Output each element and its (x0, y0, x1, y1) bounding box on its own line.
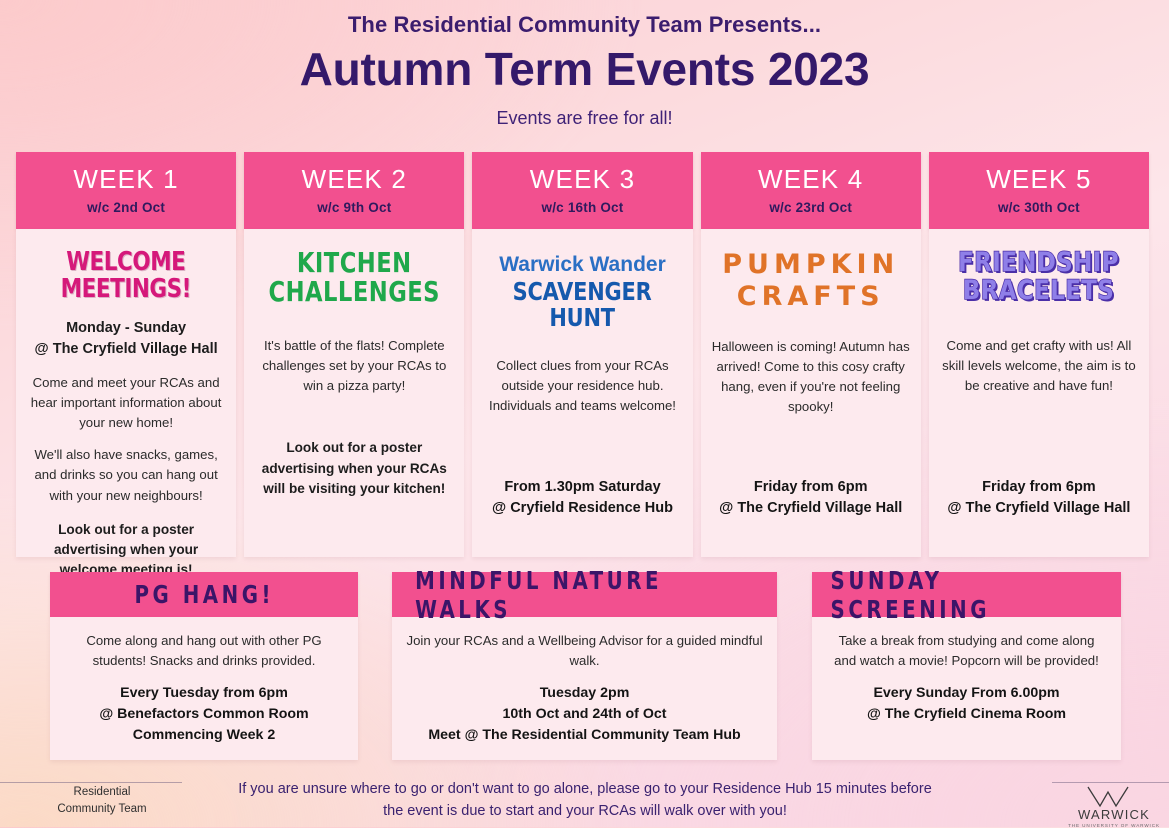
event-title-line-2: CHALLENGES (269, 278, 440, 307)
poster-canvas: The Residential Community Team Presents.… (0, 0, 1169, 827)
event-desc-paragraph: Come and meet your RCAs and hear importa… (27, 373, 225, 433)
week-card-4-body: PUMPKIN CRAFTS Halloween is coming! Autu… (701, 229, 921, 557)
page-title: Autumn Term Events 2023 (0, 42, 1169, 96)
week-card-5-body: FRIENDSHIP BRACELETS Come and get crafty… (929, 229, 1149, 557)
footer-note-line-2: the event is due to start and your RCAs … (200, 800, 970, 822)
event-title-line-2: SCAVENGER HUNT (490, 279, 674, 330)
event-foot-friendship-bracelets: Friday from 6pm @ The Cryfield Village H… (947, 477, 1130, 519)
event-when-welcome-meetings: Monday - Sunday @ The Cryfield Village H… (35, 318, 218, 359)
extra-card-mindful-nature-walks-when: Tuesday 2pm 10th Oct and 24th of Oct Mee… (406, 683, 763, 746)
extra-when-line-3: Meet @ The Residential Community Team Hu… (406, 725, 763, 746)
event-title-welcome-meetings: WELCOME MEETINGS! (61, 249, 191, 302)
event-desc-friendship-bracelets: Come and get crafty with us! All skill l… (940, 336, 1138, 396)
poster-footer: Residential Community Team If you are un… (0, 770, 1169, 827)
extra-card-pg-hang: PG HANG! Come along and hang out with ot… (50, 572, 358, 760)
extra-card-sunday-screening-desc: Take a break from studying and come alon… (826, 631, 1107, 672)
event-desc-pumpkin-crafts: Halloween is coming! Autumn has arrived!… (712, 337, 910, 417)
event-foot-line-2: @ Cryfield Residence Hub (492, 498, 673, 519)
event-title-pumpkin-crafts: PUMPKIN CRAFTS (722, 249, 899, 313)
event-title-friendship-bracelets: FRIENDSHIP BRACELETS (958, 249, 1119, 306)
event-foot-scavenger-hunt: From 1.30pm Saturday @ Cryfield Residenc… (492, 477, 673, 519)
event-title-line-2: BRACELETS (958, 277, 1119, 305)
warwick-wordmark: WARWICK (1066, 807, 1162, 822)
extra-when-line-2: @ The Cryfield Cinema Room (826, 704, 1107, 725)
week-card-5-label: WEEK 5 (986, 166, 1091, 193)
event-title-line-1: PUMPKIN (722, 249, 899, 281)
week-card-3: WEEK 3 w/c 16th Oct Warwick Wander SCAVE… (472, 152, 692, 557)
week-card-5: WEEK 5 w/c 30th Oct FRIENDSHIP BRACELETS… (929, 152, 1149, 557)
event-when-line-1: Monday - Sunday (35, 318, 218, 339)
event-note-kitchen-challenges: Look out for a poster advertising when y… (255, 438, 453, 499)
extra-when-line-2: @ Benefactors Common Room (64, 704, 344, 725)
event-desc-paragraph: Collect clues from your RCAs outside you… (483, 356, 681, 416)
header-subtitle: Events are free for all! (0, 108, 1169, 129)
event-title-scavenger-hunt: Warwick Wander SCAVENGER HUNT (483, 253, 681, 330)
extra-when-line-2: 10th Oct and 24th of Oct (406, 704, 763, 725)
extra-when-line-1: Every Sunday From 6.00pm (826, 683, 1107, 704)
extra-card-mindful-nature-walks-body: Join your RCAs and a Wellbeing Advisor f… (392, 617, 777, 760)
extra-card-mindful-nature-walks-desc: Join your RCAs and a Wellbeing Advisor f… (406, 631, 763, 672)
event-foot-pumpkin-crafts: Friday from 6pm @ The Cryfield Village H… (719, 477, 902, 519)
week-card-4: WEEK 4 w/c 23rd Oct PUMPKIN CRAFTS Hallo… (701, 152, 921, 557)
rct-line-1: Residential (22, 784, 182, 801)
event-desc-paragraph: We'll also have snacks, games, and drink… (27, 445, 225, 505)
event-desc-scavenger-hunt: Collect clues from your RCAs outside you… (483, 356, 681, 416)
week-card-2: WEEK 2 w/c 9th Oct KITCHEN CHALLENGES It… (244, 152, 464, 557)
extra-card-mindful-nature-walks: MINDFUL NATURE WALKS Join your RCAs and … (392, 572, 777, 760)
event-desc-welcome-meetings: Come and meet your RCAs and hear importa… (27, 373, 225, 505)
extra-card-mindful-nature-walks-title: MINDFUL NATURE WALKS (415, 566, 754, 624)
extra-card-mindful-nature-walks-header: MINDFUL NATURE WALKS (392, 572, 777, 617)
event-title-line-2: MEETINGS! (61, 276, 191, 303)
residential-community-team-logo: Residential Community Team (22, 784, 182, 817)
week-cards-row: WEEK 1 w/c 2nd Oct WELCOME MEETINGS! Mon… (16, 152, 1149, 557)
extra-card-pg-hang-header: PG HANG! (50, 572, 358, 617)
event-desc-paragraph: Halloween is coming! Autumn has arrived!… (712, 337, 910, 417)
header-pre-title: The Residential Community Team Presents.… (0, 12, 1169, 38)
event-title-line-1: Warwick Wander (483, 253, 681, 276)
event-foot-line-1: From 1.30pm Saturday (492, 477, 673, 498)
extra-when-line-1: Every Tuesday from 6pm (64, 683, 344, 704)
extra-card-sunday-screening-header: SUNDAY SCREENING (812, 572, 1121, 617)
event-foot-line-2: @ The Cryfield Village Hall (947, 498, 1130, 519)
footer-rule-right (1052, 782, 1169, 783)
event-title-kitchen-challenges: KITCHEN CHALLENGES (269, 249, 440, 306)
week-card-1-header: WEEK 1 w/c 2nd Oct (16, 152, 236, 229)
week-card-2-label: WEEK 2 (302, 166, 407, 193)
week-card-5-date: w/c 30th Oct (998, 200, 1080, 215)
week-card-4-label: WEEK 4 (758, 166, 863, 193)
event-when-line-2: @ The Cryfield Village Hall (35, 339, 218, 360)
event-foot-line-1: Friday from 6pm (947, 477, 1130, 498)
week-card-1: WEEK 1 w/c 2nd Oct WELCOME MEETINGS! Mon… (16, 152, 236, 557)
event-title-line-1: WELCOME (61, 249, 191, 276)
extra-card-pg-hang-when: Every Tuesday from 6pm @ Benefactors Com… (64, 683, 344, 746)
extra-card-sunday-screening-body: Take a break from studying and come alon… (812, 617, 1121, 760)
footer-rule-left (0, 782, 182, 783)
week-card-2-body: KITCHEN CHALLENGES It's battle of the fl… (244, 229, 464, 557)
rct-line-2: Community Team (22, 801, 182, 818)
extra-card-sunday-screening-when: Every Sunday From 6.00pm @ The Cryfield … (826, 683, 1107, 725)
event-desc-paragraph: Come and get crafty with us! All skill l… (940, 336, 1138, 396)
week-card-3-header: WEEK 3 w/c 16th Oct (472, 152, 692, 229)
extra-events-row: PG HANG! Come along and hang out with ot… (0, 572, 1169, 758)
week-card-1-body: WELCOME MEETINGS! Monday - Sunday @ The … (16, 229, 236, 557)
warwick-w-icon (1066, 786, 1162, 808)
event-foot-line-2: @ The Cryfield Village Hall (719, 498, 902, 519)
footer-note-line-1: If you are unsure where to go or don't w… (200, 778, 970, 800)
extra-card-pg-hang-desc: Come along and hang out with other PG st… (64, 631, 344, 672)
event-foot-line-1: Friday from 6pm (719, 477, 902, 498)
extra-card-sunday-screening-title: SUNDAY SCREENING (831, 566, 1103, 624)
footer-note: If you are unsure where to go or don't w… (200, 778, 970, 823)
week-card-3-label: WEEK 3 (530, 166, 635, 193)
week-card-5-header: WEEK 5 w/c 30th Oct (929, 152, 1149, 229)
week-card-3-body: Warwick Wander SCAVENGER HUNT Collect cl… (472, 229, 692, 557)
extra-card-pg-hang-title: PG HANG! (134, 580, 274, 609)
warwick-subtitle: THE UNIVERSITY OF WARWICK (1066, 823, 1162, 828)
week-card-4-header: WEEK 4 w/c 23rd Oct (701, 152, 921, 229)
extra-when-line-1: Tuesday 2pm (406, 683, 763, 704)
week-card-1-label: WEEK 1 (73, 166, 178, 193)
extra-card-sunday-screening: SUNDAY SCREENING Take a break from study… (812, 572, 1121, 760)
event-title-line-1: FRIENDSHIP (958, 249, 1119, 277)
poster-header: The Residential Community Team Presents.… (0, 0, 1169, 129)
week-card-2-header: WEEK 2 w/c 9th Oct (244, 152, 464, 229)
week-card-2-date: w/c 9th Oct (317, 200, 391, 215)
event-title-line-1: KITCHEN (269, 249, 440, 278)
extra-when-line-3: Commencing Week 2 (64, 725, 344, 746)
event-desc-kitchen-challenges: It's battle of the flats! Complete chall… (255, 336, 453, 396)
extra-card-pg-hang-body: Come along and hang out with other PG st… (50, 617, 358, 760)
event-desc-paragraph: It's battle of the flats! Complete chall… (255, 336, 453, 396)
week-card-3-date: w/c 16th Oct (542, 200, 624, 215)
warwick-logo: WARWICK THE UNIVERSITY OF WARWICK (1066, 786, 1162, 828)
week-card-1-date: w/c 2nd Oct (87, 200, 165, 215)
event-title-line-2: CRAFTS (722, 281, 899, 313)
week-card-4-date: w/c 23rd Oct (769, 200, 852, 215)
